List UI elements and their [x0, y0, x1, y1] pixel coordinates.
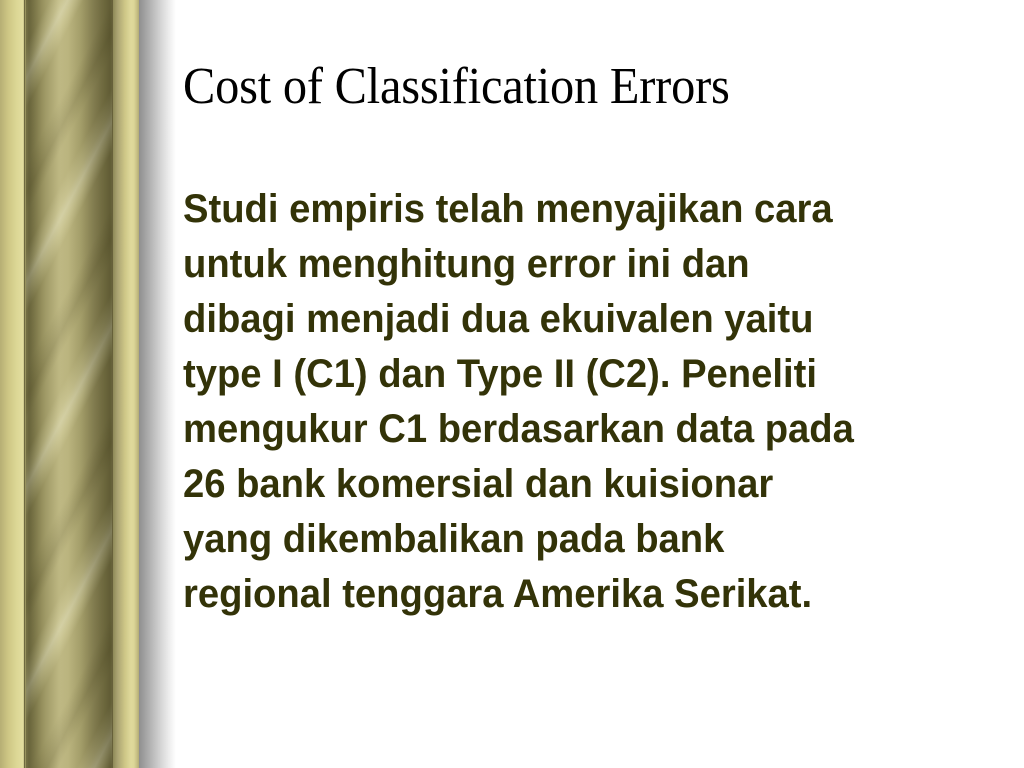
body-line: yang dikembalikan pada bank	[183, 512, 964, 567]
presentation-slide: Cost of Classification Errors Studi empi…	[0, 0, 1024, 768]
slide-title: Cost of Classification Errors	[183, 58, 946, 116]
body-line: mengukur C1 berdasarkan data pada	[183, 402, 964, 457]
body-line: type I (C1) dan Type II (C2). Peneliti	[183, 347, 964, 402]
gold-seam-left	[24, 0, 25, 768]
gold-cylinder-shading	[26, 0, 112, 768]
body-line: untuk menghitung error ini dan	[183, 237, 964, 292]
body-line: 26 bank komersial dan kuisionar	[183, 457, 964, 512]
slide-content-area: Cost of Classification Errors Studi empi…	[180, 0, 1010, 768]
slide-body-text: Studi empiris telah menyajikan cara untu…	[183, 182, 964, 622]
body-line: regional tenggara Amerika Serikat.	[183, 567, 964, 622]
left-gold-column-ornament	[0, 0, 176, 768]
body-line: Studi empiris telah menyajikan cara	[183, 182, 964, 237]
body-line: dibagi menjadi dua ekuivalen yaitu	[183, 292, 964, 347]
ornament-edge-fade-gradient	[139, 0, 176, 768]
gold-seam-right	[112, 0, 113, 768]
